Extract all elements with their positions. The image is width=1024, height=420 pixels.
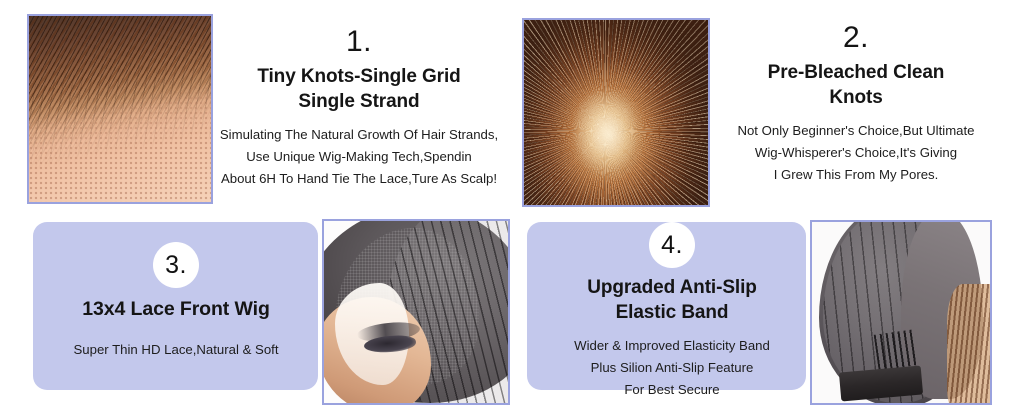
feature-4-number-badge: 4. [649,222,695,268]
feature-3-number-badge: 3. [153,242,199,288]
feature-4-text: 4. Upgraded Anti-Slip Elastic Band Wider… [534,222,810,401]
feature-1-number: 1. [213,26,505,58]
feature-2-text: 2. Pre-Bleached Clean Knots Not Only Beg… [708,22,1004,186]
feature-2-heading: Pre-Bleached Clean Knots [708,60,1004,110]
hairline-lace-closeup-photo [27,14,213,204]
infographic-canvas: 1. Tiny Knots-Single Grid Single Strand … [0,0,1024,420]
feature-4-heading: Upgraded Anti-Slip Elastic Band [534,275,810,325]
feature-2-number: 2. [708,22,1004,54]
feature-4-body: Wider & Improved Elasticity Band Plus Si… [534,335,810,401]
feature-3-body: Super Thin HD Lace,Natural & Soft [38,339,314,361]
feature-1-text: 1. Tiny Knots-Single Grid Single Strand … [213,26,505,190]
lace-front-wig-profile-photo [322,219,510,405]
feature-3-heading: 13x4 Lace Front Wig [38,297,314,322]
feature-1-heading: Tiny Knots-Single Grid Single Strand [213,64,505,114]
feature-1-body: Simulating The Natural Growth Of Hair St… [213,124,505,190]
feature-2-body: Not Only Beginner's Choice,But Ultimate … [708,120,1004,186]
elastic-band-wig-cap-photo [810,220,992,405]
feature-3-text: 3. 13x4 Lace Front Wig Super Thin HD Lac… [38,242,314,361]
bleached-knots-closeup-photo [522,18,710,207]
